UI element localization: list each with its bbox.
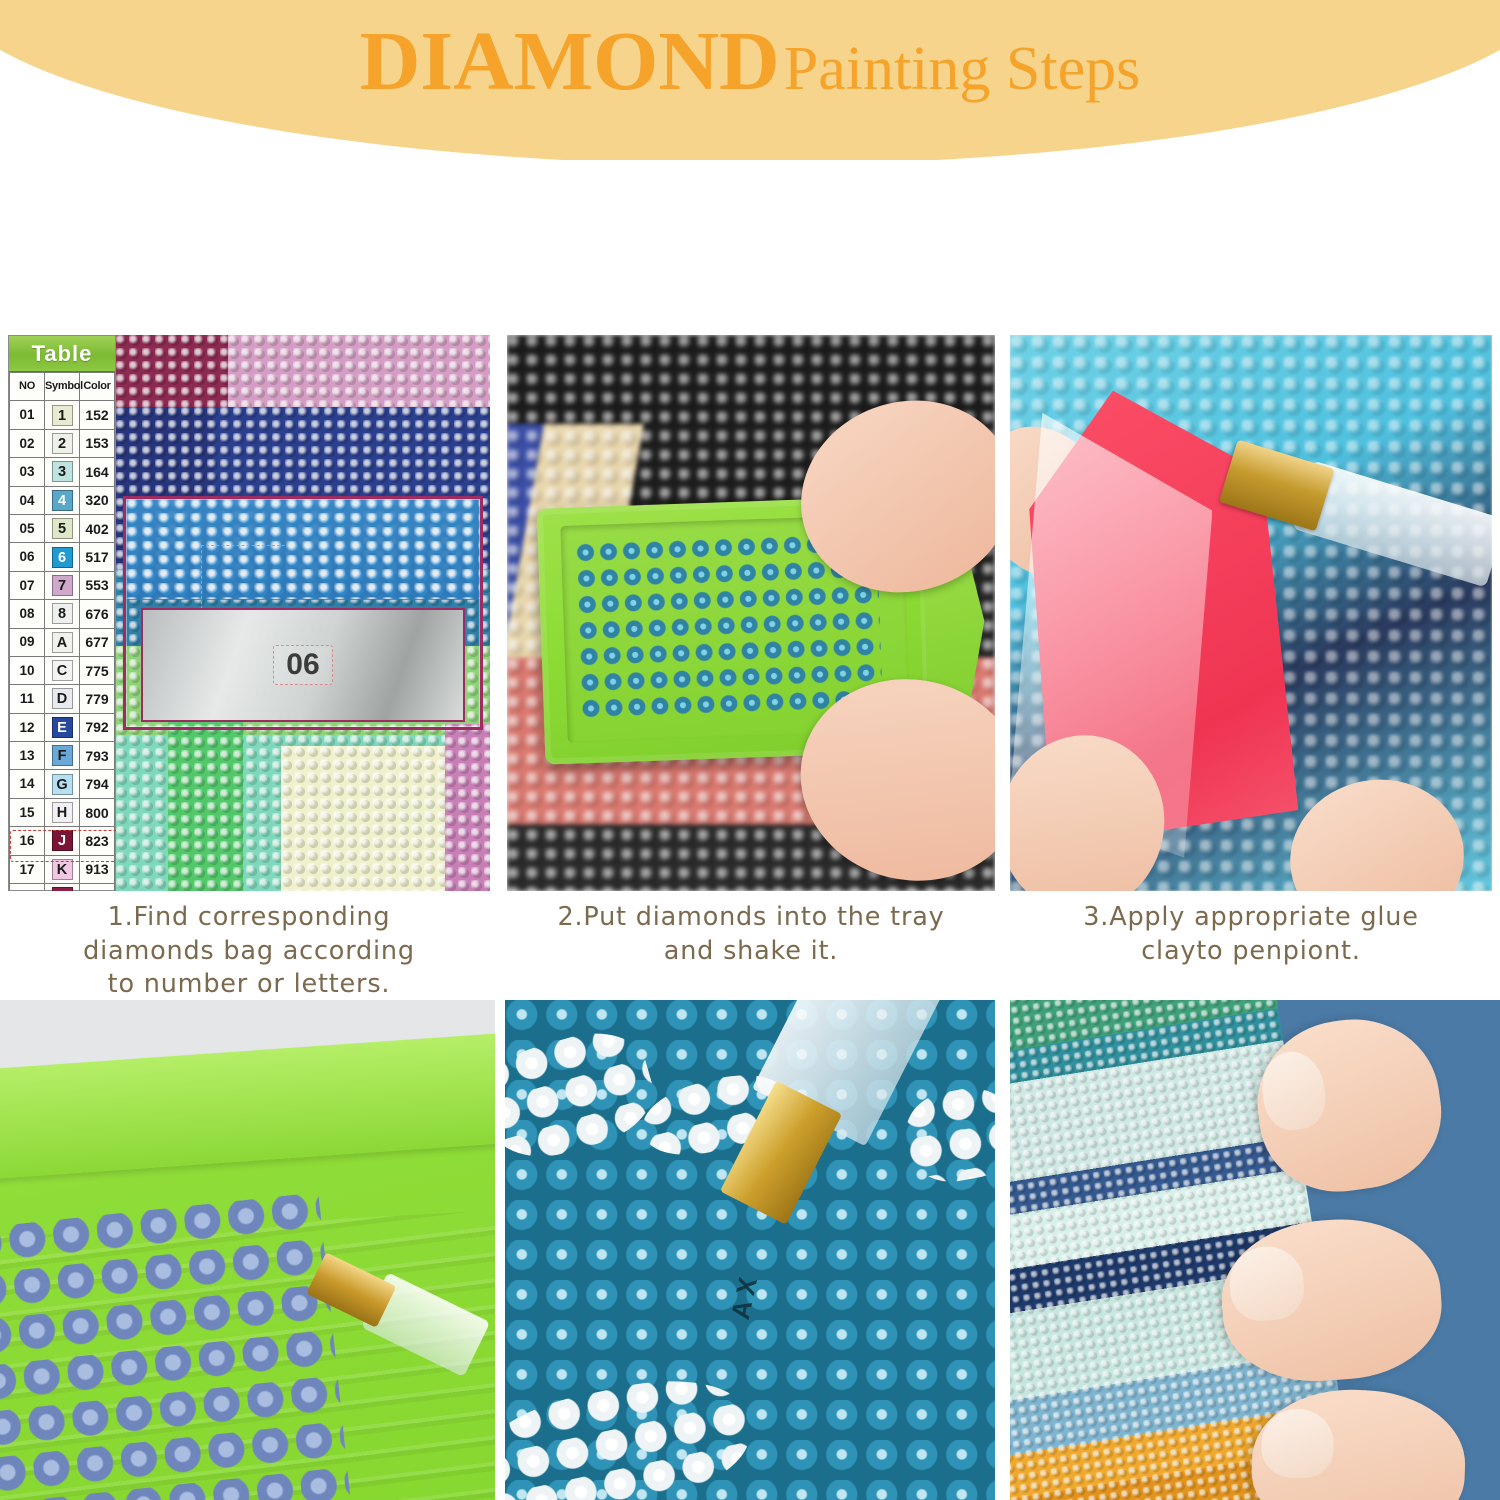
diamond-bag-number: 06 xyxy=(273,645,332,685)
cell-symbol: L xyxy=(45,884,80,891)
cell-color-code: 676 xyxy=(80,600,115,628)
cell-symbol: C xyxy=(45,656,80,684)
cell-no: 14 xyxy=(10,770,45,798)
cell-color-code: 930 xyxy=(80,884,115,891)
color-chart-row: 18L930 xyxy=(10,884,115,891)
cell-symbol: 7 xyxy=(45,571,80,599)
cell-color-code: 913 xyxy=(80,855,115,883)
cell-color-code: 152 xyxy=(80,401,115,429)
cell-color-code: 677 xyxy=(80,628,115,656)
step-cell-3: 3.Apply appropriate glueclayto penpiont. xyxy=(1010,335,1492,980)
step-1-canvas-artwork: 06 xyxy=(116,335,490,891)
cell-no: 18 xyxy=(10,884,45,891)
symbol-swatch: 3 xyxy=(52,461,73,482)
col-header-no: NO xyxy=(10,373,45,401)
col-header-symbol: Symbol xyxy=(45,373,80,401)
symbol-swatch: 8 xyxy=(52,603,73,624)
cell-symbol: 4 xyxy=(45,486,80,514)
symbol-swatch: A xyxy=(52,632,73,653)
color-chart-row: 15H800 xyxy=(10,798,115,826)
cell-no: 15 xyxy=(10,798,45,826)
cell-no: 04 xyxy=(10,486,45,514)
steps-grid: Table NO Symbol Color 011152022153033164… xyxy=(0,330,1500,1500)
cell-symbol: A xyxy=(45,628,80,656)
cell-symbol: 2 xyxy=(45,429,80,457)
cell-symbol: D xyxy=(45,685,80,713)
cell-color-code: 823 xyxy=(80,827,115,855)
symbol-swatch: C xyxy=(52,660,73,681)
cell-color-code: 800 xyxy=(80,798,115,826)
color-chart-row: 011152 xyxy=(10,401,115,429)
fingernail xyxy=(1227,1244,1306,1323)
color-chart-row: 055402 xyxy=(10,514,115,542)
step-6-image xyxy=(1010,1000,1500,1500)
cell-color-code: 792 xyxy=(80,713,115,741)
cell-color-code: 153 xyxy=(80,429,115,457)
title-light-words: Painting Steps xyxy=(780,35,1141,103)
color-chart-row: 12E792 xyxy=(10,713,115,741)
cell-no: 10 xyxy=(10,656,45,684)
step-5-image: AX xyxy=(505,1000,995,1500)
cell-color-code: 164 xyxy=(80,458,115,486)
cell-no: 01 xyxy=(10,401,45,429)
color-chart-row: 044320 xyxy=(10,486,115,514)
cell-no: 16 xyxy=(10,827,45,855)
finger-2 xyxy=(1217,1213,1446,1388)
cell-color-code: 320 xyxy=(80,486,115,514)
cell-no: 03 xyxy=(10,458,45,486)
page-title: DIAMONDPainting Steps xyxy=(0,20,1500,104)
color-chart-row: 088676 xyxy=(10,600,115,628)
color-chart-row: 066517 xyxy=(10,543,115,571)
cell-symbol: 3 xyxy=(45,458,80,486)
cell-symbol: 6 xyxy=(45,543,80,571)
symbol-swatch: E xyxy=(52,717,73,738)
symbol-swatch: J xyxy=(52,830,73,851)
diamond-bag: 06 xyxy=(123,496,482,730)
cell-symbol: H xyxy=(45,798,80,826)
cell-no: 17 xyxy=(10,855,45,883)
cell-no: 11 xyxy=(10,685,45,713)
cell-symbol: J xyxy=(45,827,80,855)
symbol-swatch: 4 xyxy=(52,490,73,511)
step-cell-2: 2.Put diamonds into the trayand shake it… xyxy=(507,335,995,980)
cell-symbol: E xyxy=(45,713,80,741)
cell-no: 12 xyxy=(10,713,45,741)
step-3-caption: 3.Apply appropriate glueclayto penpiont. xyxy=(1010,901,1492,968)
finger-3 xyxy=(1250,1386,1468,1500)
cell-no: 05 xyxy=(10,514,45,542)
color-chart-table: Table NO Symbol Color 011152022153033164… xyxy=(8,335,116,891)
symbol-swatch: F xyxy=(52,745,73,766)
diamond-bag-beads xyxy=(126,499,479,599)
color-chart-title: Table xyxy=(9,336,115,372)
cell-no: 02 xyxy=(10,429,45,457)
color-chart-grid: NO Symbol Color 011152022153033164044320… xyxy=(9,372,115,891)
title-bold-word: DIAMOND xyxy=(360,15,780,108)
symbol-swatch: H xyxy=(52,802,73,823)
step-cell-6 xyxy=(1010,1000,1500,1500)
diamond-bag-label: 06 xyxy=(141,608,466,722)
step-1-caption: 1.Find correspondingdiamonds bag accordi… xyxy=(8,901,490,1002)
symbol-swatch: 1 xyxy=(52,405,73,426)
step-2-caption: 2.Put diamonds into the trayand shake it… xyxy=(507,901,995,968)
step-cell-1: Table NO Symbol Color 011152022153033164… xyxy=(8,335,490,980)
symbol-swatch: 6 xyxy=(52,547,73,568)
fingernail xyxy=(1260,1408,1335,1479)
cell-symbol: 5 xyxy=(45,514,80,542)
cell-no: 08 xyxy=(10,600,45,628)
symbol-swatch: 5 xyxy=(52,518,73,539)
symbol-swatch: 2 xyxy=(52,433,73,454)
pressing-hand xyxy=(1216,1010,1500,1500)
cell-no: 06 xyxy=(10,543,45,571)
symbol-swatch: G xyxy=(52,774,73,795)
cell-symbol: K xyxy=(45,855,80,883)
color-chart-row: 09A677 xyxy=(10,628,115,656)
cell-color-code: 779 xyxy=(80,685,115,713)
pen-tip-brass xyxy=(1219,440,1334,531)
cell-color-code: 775 xyxy=(80,656,115,684)
fingernail xyxy=(1258,1047,1330,1133)
cell-color-code: 517 xyxy=(80,543,115,571)
step-1-image: Table NO Symbol Color 011152022153033164… xyxy=(8,335,490,891)
tray-closeup-beads xyxy=(0,1192,352,1500)
step-4-image xyxy=(0,1000,495,1500)
color-chart-row: 033164 xyxy=(10,458,115,486)
symbol-swatch: 7 xyxy=(52,575,73,596)
cell-symbol: 8 xyxy=(45,600,80,628)
header-banner: DIAMONDPainting Steps xyxy=(0,0,1500,160)
step-cell-4 xyxy=(0,1000,495,1500)
symbol-swatch: K xyxy=(52,859,73,880)
color-chart-row: 077553 xyxy=(10,571,115,599)
step-cell-5: AX xyxy=(505,1000,995,1500)
symbol-swatch: L xyxy=(52,887,73,891)
cell-symbol: 1 xyxy=(45,401,80,429)
color-chart-header-row: NO Symbol Color xyxy=(10,373,115,401)
cell-color-code: 553 xyxy=(80,571,115,599)
cell-symbol: F xyxy=(45,742,80,770)
step-3-image xyxy=(1010,335,1492,891)
color-chart-row: 10C775 xyxy=(10,656,115,684)
color-chart-row: 17K913 xyxy=(10,855,115,883)
cell-no: 13 xyxy=(10,742,45,770)
color-chart-row: 14G794 xyxy=(10,770,115,798)
col-header-color: Color xyxy=(80,373,115,401)
finger-1 xyxy=(1247,1008,1451,1202)
cell-color-code: 793 xyxy=(80,742,115,770)
cell-color-code: 794 xyxy=(80,770,115,798)
color-chart-row: 11D779 xyxy=(10,685,115,713)
cell-no: 09 xyxy=(10,628,45,656)
cell-color-code: 402 xyxy=(80,514,115,542)
cell-symbol: G xyxy=(45,770,80,798)
color-chart-row: 13F793 xyxy=(10,742,115,770)
symbol-swatch: D xyxy=(52,688,73,709)
color-chart-row: 022153 xyxy=(10,429,115,457)
step-2-image xyxy=(507,335,995,891)
color-chart-body: 0111520221530331640443200554020665170775… xyxy=(10,401,115,891)
color-chart-row: 16J823 xyxy=(10,827,115,855)
cell-no: 07 xyxy=(10,571,45,599)
diamond-painting-steps-page: DIAMONDPainting Steps Table NO Symbol Co… xyxy=(0,0,1500,1500)
